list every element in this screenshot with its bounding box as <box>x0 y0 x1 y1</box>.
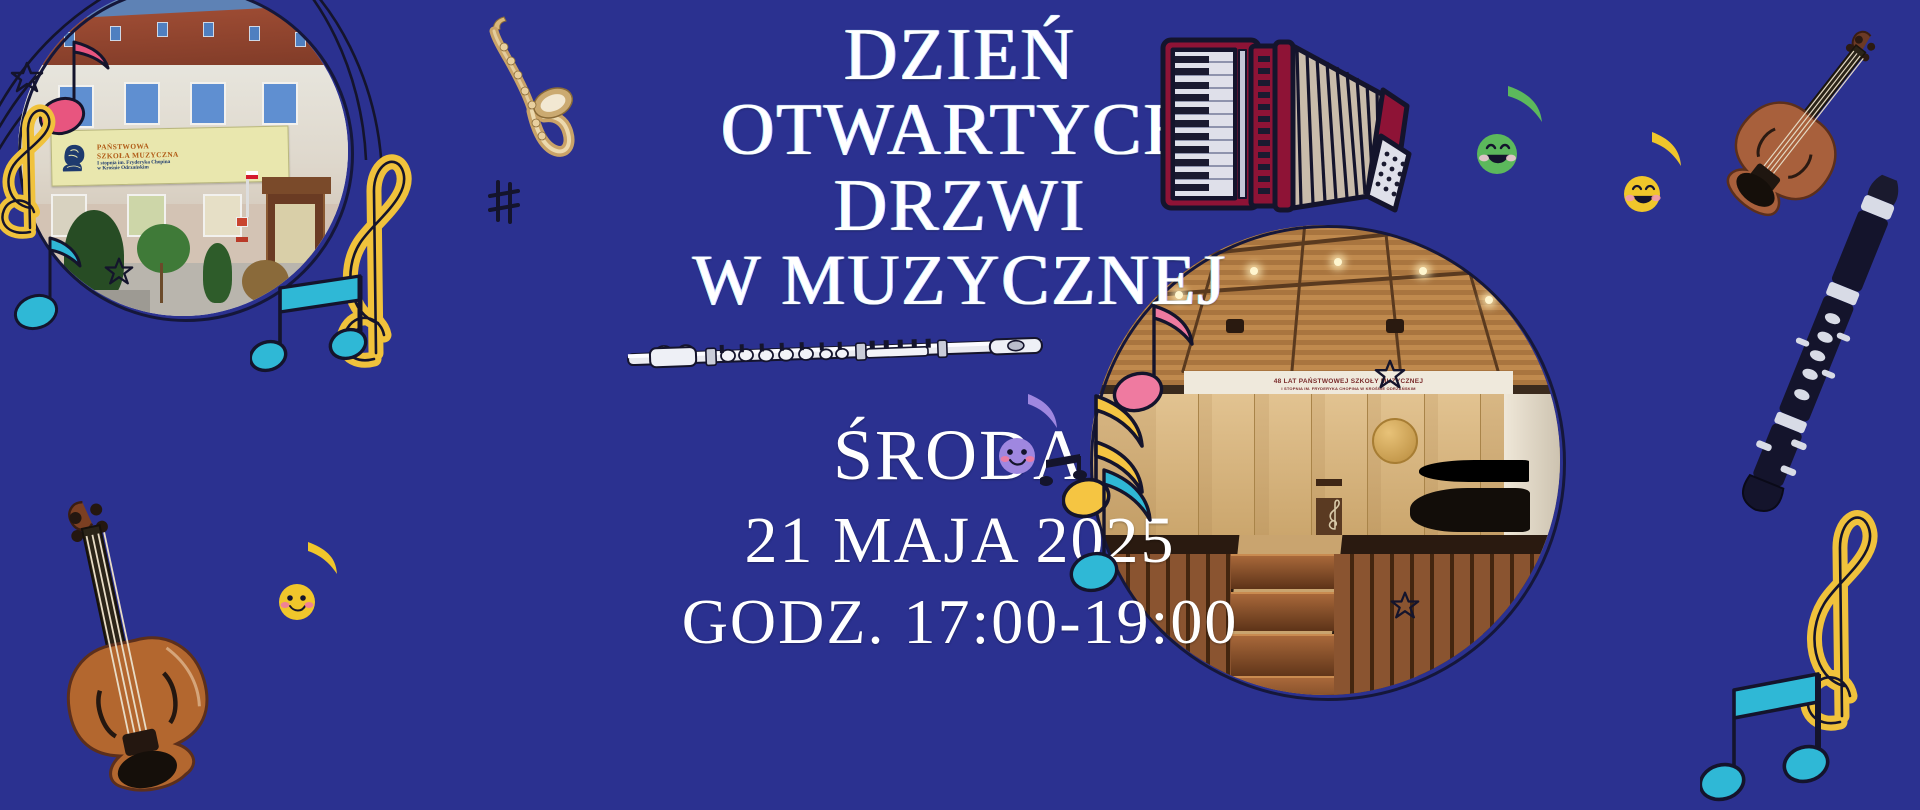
headline-line-2: OTWARTYCH <box>721 93 1199 168</box>
stage-banner-line1: 48 LAT PAŃSTWOWEJ SZKOŁY MUZYCZNEJ <box>1274 379 1424 386</box>
black-beamed-note-icon <box>1040 450 1088 490</box>
lectern-treble-clef-icon <box>1325 498 1345 532</box>
poster-canvas: PAŃSTWOWA SZKOŁA MUZYCZNA I stopnia im. … <box>0 0 1920 810</box>
yellow-smiley-note-icon <box>1618 118 1688 216</box>
stage-banner-line2: I STOPNIA IM. FRYDERYKA CHOPINA W KROŚNI… <box>1281 387 1415 391</box>
accordion-icon <box>1155 28 1415 223</box>
school-building-photo: PAŃSTWOWA SZKOŁA MUZYCZNA I stopnia im. … <box>18 0 348 316</box>
concert-hall-photo: 48 LAT PAŃSTWOWEJ SZKOŁY MUZYCZNEJ I STO… <box>1090 225 1560 695</box>
wall-medallion-icon <box>1372 418 1418 464</box>
event-day: ŚRODA <box>833 414 1087 497</box>
yellow-smiley-note-icon <box>272 528 348 628</box>
headline-line-3: DRZWI <box>834 169 1087 244</box>
green-smiley-note-icon <box>1470 68 1550 178</box>
flute-icon <box>620 330 1050 376</box>
star-outline-icon <box>336 330 366 360</box>
violin-bottom-left-icon <box>18 485 228 810</box>
yellow-treble-clef-icon <box>1790 500 1890 740</box>
headline-line-1: DZIEŃ <box>844 18 1076 93</box>
saxophone-icon <box>470 5 580 190</box>
purple-smiley-note-icon <box>992 380 1068 480</box>
violin-top-right-icon <box>1700 0 1920 230</box>
cyan-beamed-notes-icon <box>1700 670 1830 810</box>
sharp-symbol-icon <box>487 178 521 226</box>
chopin-portrait-icon <box>55 136 95 180</box>
clarinet-icon <box>1718 155 1920 535</box>
